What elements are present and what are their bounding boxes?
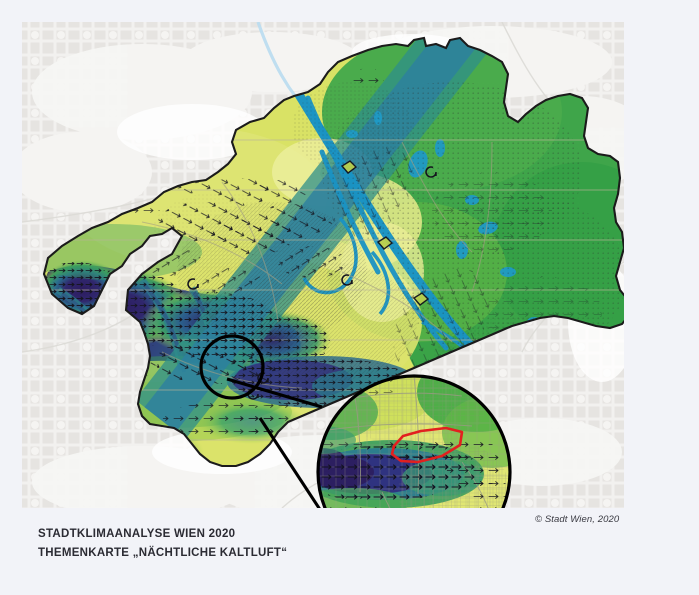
caption-line-2: THEMENKARTE „NÄCHTLICHE KALTLUFT“ xyxy=(38,544,287,563)
map-figure[interactable] xyxy=(22,22,624,508)
thematic-map-svg[interactable] xyxy=(22,22,624,508)
caption-line-1: STADTKLIMAANALYSE WIEN 2020 xyxy=(38,525,287,544)
map-page: STADTKLIMAANALYSE WIEN 2020 THEMENKARTE … xyxy=(0,0,699,595)
map-caption: STADTKLIMAANALYSE WIEN 2020 THEMENKARTE … xyxy=(38,525,287,563)
copyright-credit: © Stadt Wien, 2020 xyxy=(535,514,619,525)
